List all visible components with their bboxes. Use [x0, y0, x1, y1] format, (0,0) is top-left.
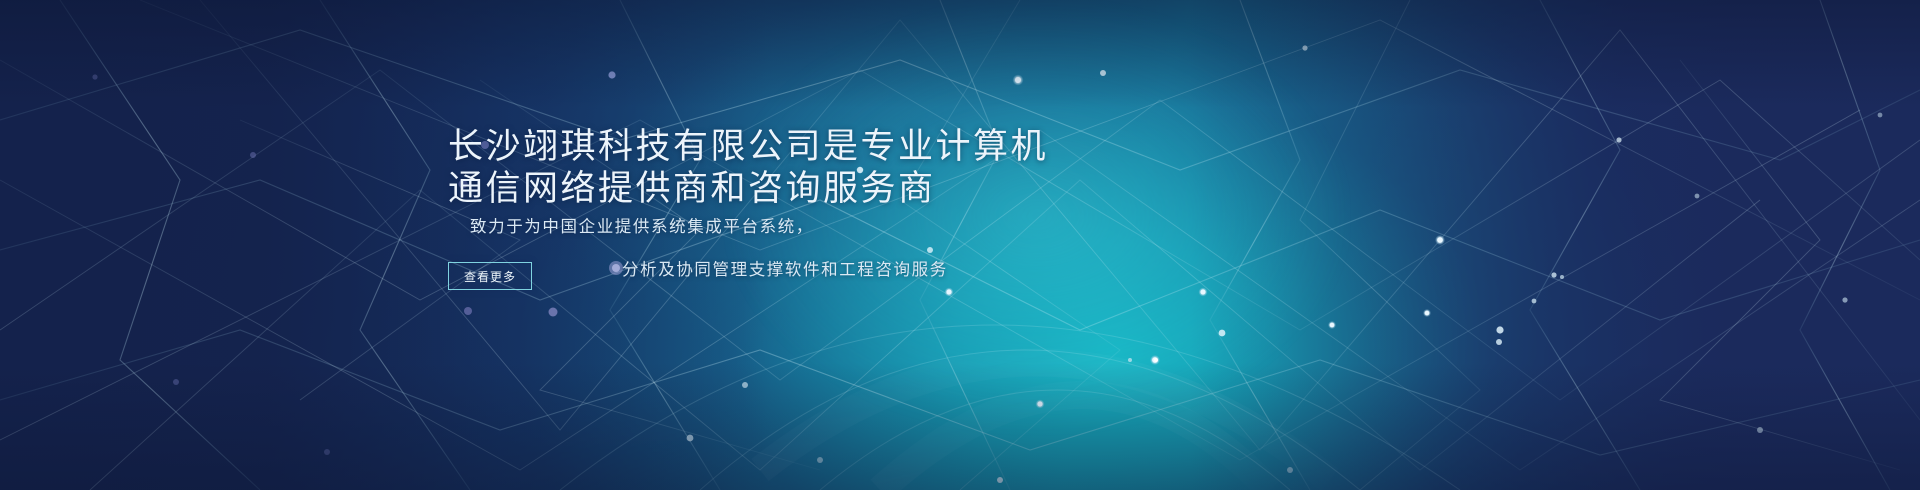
banner-headline: 长沙翊琪科技有限公司是专业计算机 通信网络提供商和咨询服务商: [448, 126, 1048, 210]
hero-banner: 长沙翊琪科技有限公司是专业计算机 通信网络提供商和咨询服务商 致力于为中国企业提…: [0, 0, 1920, 490]
banner-subtitle-line-1: 致力于为中国企业提供系统集成平台系统，: [470, 213, 814, 237]
headline-line-2: 通信网络提供商和咨询服务商: [448, 168, 1048, 210]
view-more-button[interactable]: 查看更多: [448, 262, 532, 290]
banner-content: 长沙翊琪科技有限公司是专业计算机 通信网络提供商和咨询服务商 致力于为中国企业提…: [0, 0, 1920, 490]
banner-subtitle-line-2: 分析及协同管理支撑软件和工程咨询服务: [622, 256, 948, 280]
headline-line-1: 长沙翊琪科技有限公司是专业计算机: [448, 127, 1048, 167]
